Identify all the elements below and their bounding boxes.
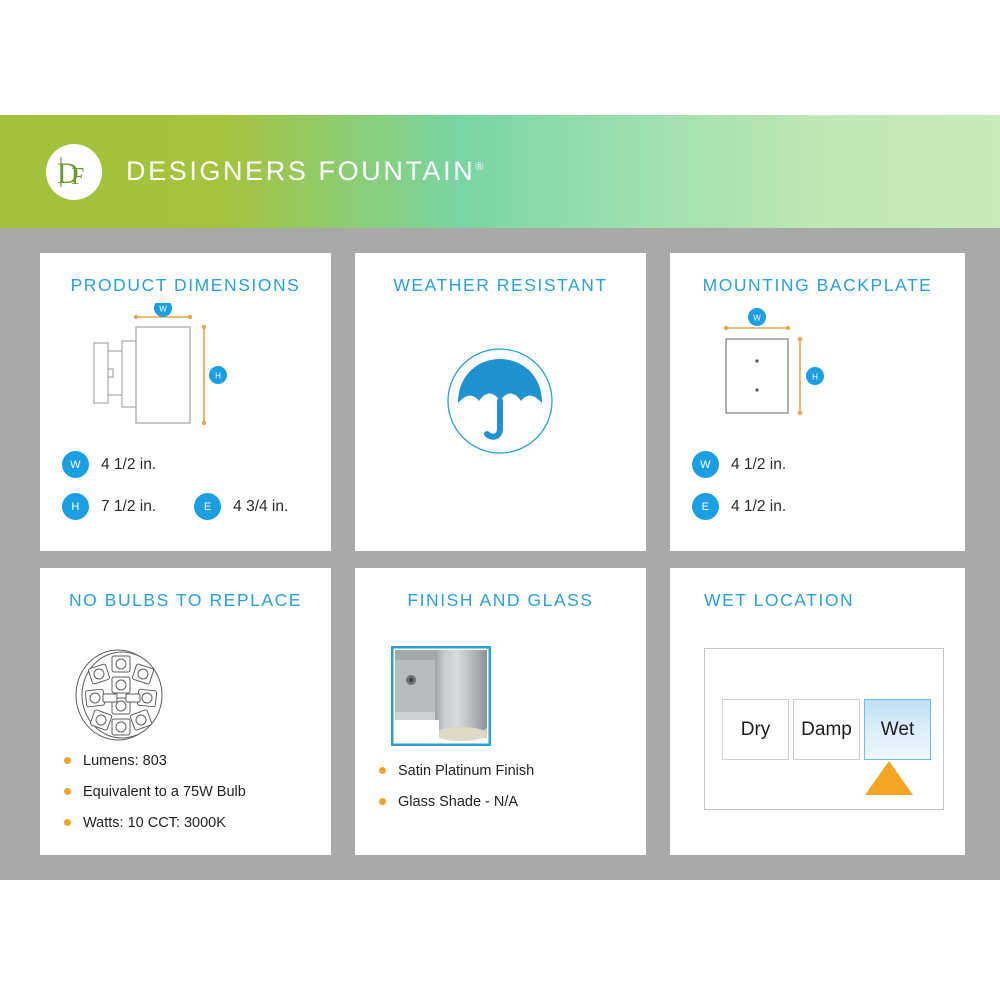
umbrella-with-raindrops-icon bbox=[430, 331, 570, 476]
brand-lockup: D F DESIGNERS FOUNTAIN® bbox=[46, 144, 483, 200]
spec-row-height-extension: H 7 1/2 in. E 4 3/4 in. bbox=[62, 493, 317, 520]
cylinder-sconce-side-view-diagram-icon: W H bbox=[88, 303, 268, 448]
brand-name-text: DESIGNERS FOUNTAIN bbox=[126, 156, 475, 186]
spec-value-backplate-width: 4 1/2 in. bbox=[731, 456, 786, 474]
card-mounting-backplate: MOUNTING BACKPLATE W bbox=[670, 253, 965, 551]
spec-row-backplate-extension: E 4 1/2 in. bbox=[692, 493, 951, 520]
finish-bullet-list: Satin Platinum Finish Glass Shade - N/A bbox=[379, 763, 634, 825]
location-rating-frame: Dry Damp Wet bbox=[704, 648, 944, 810]
spec-value-height: 7 1/2 in. bbox=[101, 498, 156, 516]
list-item: Satin Platinum Finish bbox=[379, 763, 634, 779]
bullet-text-watts-cct: Watts: 10 CCT: 3000K bbox=[83, 815, 226, 831]
card-weather-resistant: WEATHER RESISTANT bbox=[355, 253, 646, 551]
card-product-dimensions: PRODUCT DIMENSIONS bbox=[40, 253, 331, 551]
location-option-dry[interactable]: Dry bbox=[722, 699, 789, 760]
card-no-bulbs-to-replace: NO BULBS TO REPLACE bbox=[40, 568, 331, 855]
satin-platinum-cylinder-photo-icon bbox=[391, 646, 491, 751]
bullet-dot-icon bbox=[64, 819, 71, 826]
led-array-disc-icon bbox=[60, 640, 190, 755]
spec-value-backplate-extension: 4 1/2 in. bbox=[731, 498, 786, 516]
spec-value-extension: 4 3/4 in. bbox=[233, 498, 288, 516]
card-title-wet-location: WET LOCATION bbox=[704, 590, 854, 611]
bullet-dot-icon bbox=[64, 788, 71, 795]
list-item: Watts: 10 CCT: 3000K bbox=[64, 815, 319, 831]
card-title-finish-and-glass: FINISH AND GLASS bbox=[355, 590, 646, 611]
brand-name: DESIGNERS FOUNTAIN® bbox=[126, 156, 483, 187]
spec-row-width: W 4 1/2 in. bbox=[62, 451, 317, 478]
card-finish-and-glass: FINISH AND GLASS bbox=[355, 568, 646, 855]
list-item: Glass Shade - N/A bbox=[379, 794, 634, 810]
location-option-wet[interactable]: Wet bbox=[864, 699, 931, 760]
bullet-dot-icon bbox=[64, 757, 71, 764]
df-monogram-logo-icon: D F bbox=[46, 144, 102, 200]
svg-text:W: W bbox=[159, 305, 167, 314]
list-item: Equivalent to a 75W Bulb bbox=[64, 784, 319, 800]
bullet-text-lumens: Lumens: 803 bbox=[83, 753, 167, 769]
badge-e: E bbox=[194, 493, 221, 520]
spec-row-backplate-width: W 4 1/2 in. bbox=[692, 451, 951, 478]
bullet-text-finish: Satin Platinum Finish bbox=[398, 763, 534, 779]
card-title-no-bulbs: NO BULBS TO REPLACE bbox=[40, 590, 331, 611]
bullet-text-glass-shade: Glass Shade - N/A bbox=[398, 794, 518, 810]
badge-h: H bbox=[62, 493, 89, 520]
svg-text:F: F bbox=[71, 164, 84, 190]
svg-text:H: H bbox=[215, 372, 221, 381]
location-option-group: Dry Damp Wet bbox=[722, 699, 935, 760]
spec-sheet: D F DESIGNERS FOUNTAIN® PRODUCT DIMENSIO… bbox=[0, 0, 1000, 1000]
product-dimension-specs: W 4 1/2 in. H 7 1/2 in. E 4 3/4 in. bbox=[62, 451, 317, 535]
content-panel: PRODUCT DIMENSIONS bbox=[0, 228, 1000, 880]
card-wet-location: WET LOCATION Dry Damp Wet bbox=[670, 568, 965, 855]
spec-value-width: 4 1/2 in. bbox=[101, 456, 156, 474]
svg-text:W: W bbox=[753, 314, 761, 323]
spec-card-grid: PRODUCT DIMENSIONS bbox=[40, 253, 965, 855]
bullet-dot-icon bbox=[379, 798, 386, 805]
backplate-specs: W 4 1/2 in. E 4 1/2 in. bbox=[692, 451, 951, 535]
svg-text:H: H bbox=[812, 373, 818, 382]
no-bulbs-bullet-list: Lumens: 803 Equivalent to a 75W Bulb Wat… bbox=[64, 753, 319, 846]
brand-header-band: D F DESIGNERS FOUNTAIN® bbox=[0, 115, 1000, 228]
orange-triangle-pointer-icon bbox=[865, 761, 913, 795]
bullet-text-equivalent: Equivalent to a 75W Bulb bbox=[83, 784, 246, 800]
card-title-weather-resistant: WEATHER RESISTANT bbox=[355, 275, 646, 296]
square-backplate-diagram-icon: W H bbox=[702, 305, 862, 440]
list-item: Lumens: 803 bbox=[64, 753, 319, 769]
location-option-damp[interactable]: Damp bbox=[793, 699, 860, 760]
card-title-product-dimensions: PRODUCT DIMENSIONS bbox=[40, 275, 331, 296]
badge-w: W bbox=[692, 451, 719, 478]
badge-e: E bbox=[692, 493, 719, 520]
badge-w: W bbox=[62, 451, 89, 478]
registered-mark: ® bbox=[475, 161, 483, 173]
bullet-dot-icon bbox=[379, 767, 386, 774]
card-title-mounting-backplate: MOUNTING BACKPLATE bbox=[670, 275, 965, 296]
